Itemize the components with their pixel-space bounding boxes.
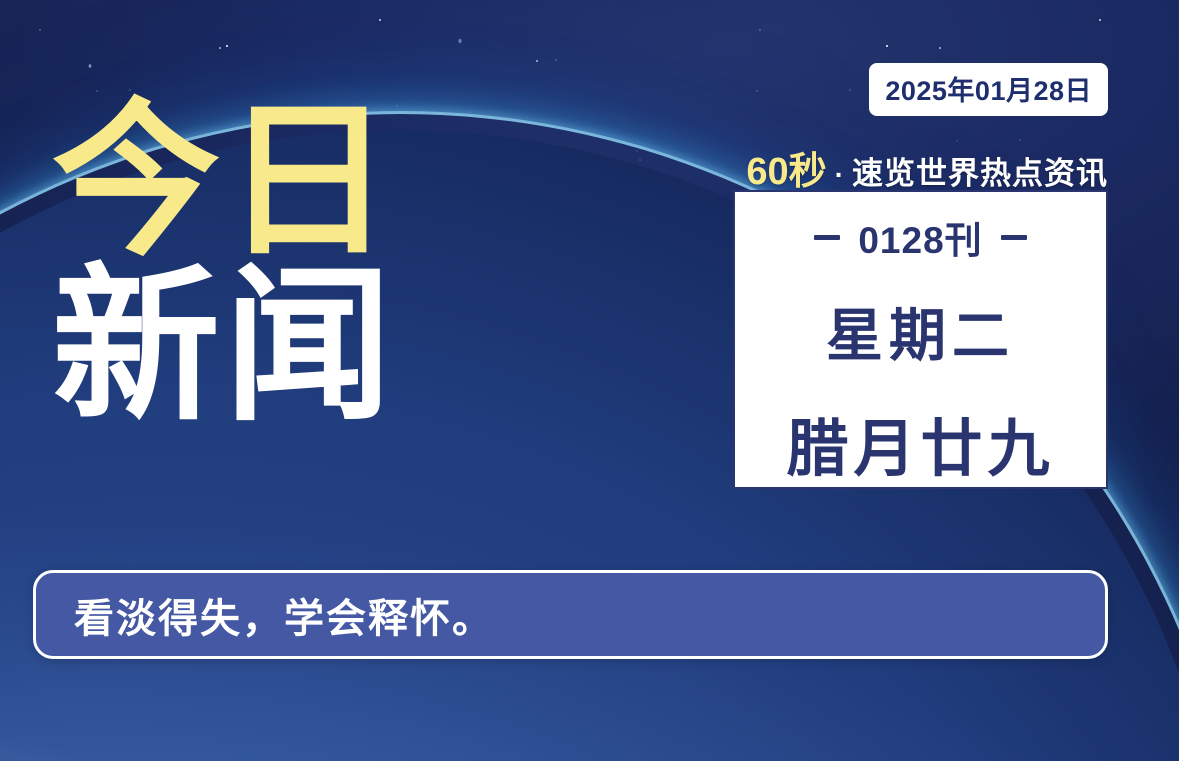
news-poster: 2025年01月28日 今日 新闻 60秒 · 速览世界热点资讯 0128刊 星… — [0, 0, 1179, 761]
tagline-seconds: 60秒 — [746, 140, 826, 195]
tagline: 60秒 · 速览世界热点资讯 — [746, 140, 1108, 195]
dash-left-icon — [814, 235, 840, 240]
quote-text: 看淡得失，学会释怀。 — [36, 586, 494, 644]
page-title: 今日 新闻 — [52, 96, 472, 433]
dash-right-icon — [1001, 235, 1027, 240]
title-line-news: 新闻 — [52, 261, 472, 432]
title-line-today: 今日 — [52, 96, 472, 267]
tagline-text: 速览世界热点资讯 — [852, 148, 1108, 193]
tagline-separator-icon: · — [833, 159, 846, 191]
lunar-date-label: 腊月廿九 — [786, 398, 1054, 488]
quote-banner: 看淡得失，学会释怀。 — [33, 570, 1108, 659]
weekday-label: 星期二 — [826, 290, 1015, 372]
info-card: 0128刊 星期二 腊月廿九 — [733, 190, 1108, 489]
issue-row: 0128刊 — [814, 210, 1026, 264]
date-badge: 2025年01月28日 — [869, 63, 1108, 116]
issue-number: 0128刊 — [858, 210, 982, 264]
